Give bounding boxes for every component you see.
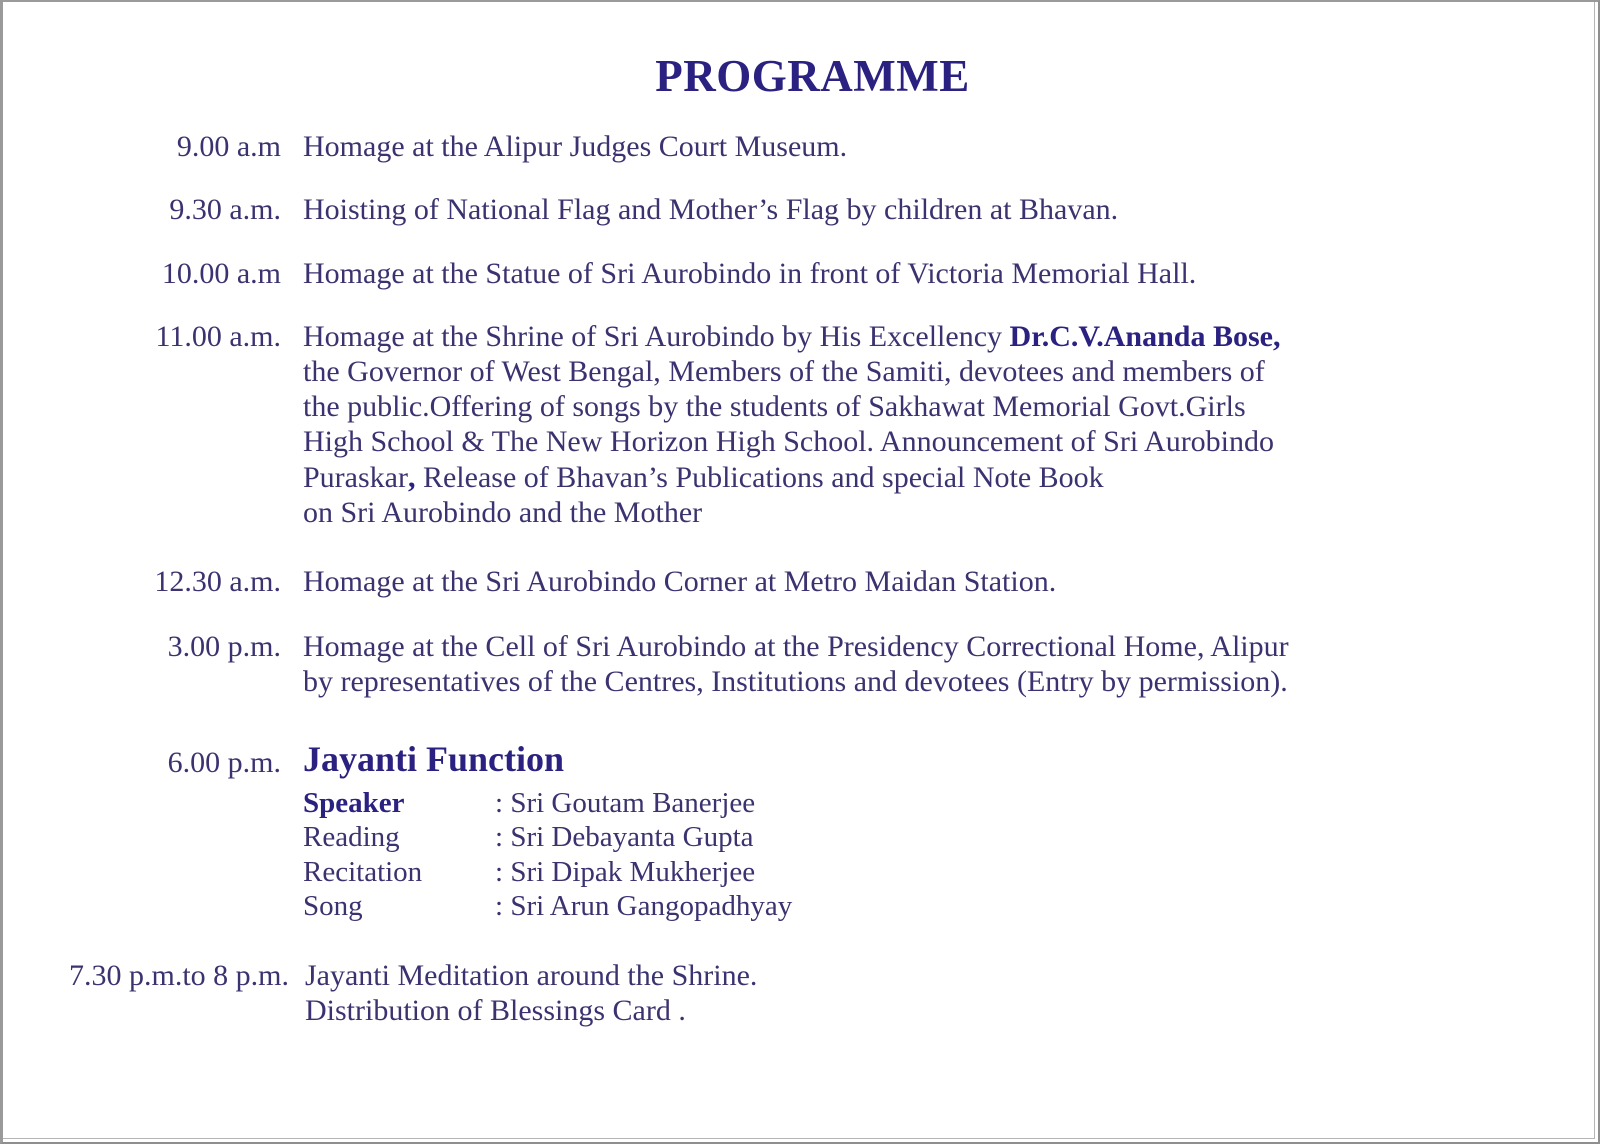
schedule-time: 10.00 a.m xyxy=(3,256,303,291)
governor-name: Dr.C.V.Ananda Bose, xyxy=(1010,320,1281,353)
schedule-time: 3.00 p.m. xyxy=(3,629,303,664)
schedule-row: 10.00 a.m Homage at the Statue of Sri Au… xyxy=(3,256,1598,291)
schedule-list: 9.00 a.m Homage at the Alipur Judges Cou… xyxy=(3,129,1598,1028)
credit-name: Sri Arun Gangopadhyay xyxy=(510,890,792,922)
credit-row: Speaker : Sri Goutam Banerjee xyxy=(303,786,1558,821)
credit-name: Sri Debayanta Gupta xyxy=(510,821,753,853)
jayanti-function-heading: Jayanti Function xyxy=(303,739,1558,779)
schedule-time: 9.00 a.m xyxy=(3,129,303,164)
schedule-time: 7.30 p.m.to 8 p.m. xyxy=(3,958,303,993)
schedule-description: Homage at the Statue of Sri Aurobindo in… xyxy=(303,256,1598,291)
credit-row: Recitation : Sri Dipak Mukherjee xyxy=(303,855,1558,890)
schedule-description: Homage at the Cell of Sri Aurobindo at t… xyxy=(303,629,1598,699)
credit-row: Reading : Sri Debayanta Gupta xyxy=(303,820,1558,855)
credit-separator: : xyxy=(495,787,503,819)
schedule-row: 9.00 a.m Homage at the Alipur Judges Cou… xyxy=(3,129,1598,164)
jayanti-credits-list: Speaker : Sri Goutam Banerjee Reading : … xyxy=(303,786,1558,924)
schedule-time: 9.30 a.m. xyxy=(3,192,303,227)
description-text: Release of Bhavan’s Publications and spe… xyxy=(415,461,1103,494)
page-frame: PROGRAMME 9.00 a.m Homage at the Alipur … xyxy=(0,0,1600,1144)
description-line: Hoisting of National Flag and Mother’s F… xyxy=(303,192,1558,227)
credit-person: : Sri Arun Gangopadhyay xyxy=(495,889,792,924)
credit-name: Sri Goutam Banerjee xyxy=(510,787,755,819)
description-line: Jayanti Meditation around the Shrine. xyxy=(305,958,1558,993)
schedule-time: 11.00 a.m. xyxy=(3,319,303,354)
puraskar-word: Puraskar xyxy=(303,461,408,494)
description-line: Homage at the Statue of Sri Aurobindo in… xyxy=(303,256,1558,291)
description-line: the public.Offering of songs by the stud… xyxy=(303,389,1558,424)
credit-role: Song xyxy=(303,889,495,924)
credit-role: Recitation xyxy=(303,855,495,890)
description-line: Homage at the Cell of Sri Aurobindo at t… xyxy=(303,629,1558,664)
description-line: Puraskar, Release of Bhavan’s Publicatio… xyxy=(303,460,1558,495)
credit-separator: : xyxy=(495,856,503,888)
schedule-description: Homage at the Alipur Judges Court Museum… xyxy=(303,129,1598,164)
schedule-row: 12.30 a.m. Homage at the Sri Aurobindo C… xyxy=(3,564,1598,599)
credit-person: : Sri Goutam Banerjee xyxy=(495,786,755,821)
description-line: Distribution of Blessings Card . xyxy=(305,993,1558,1028)
credit-role: Reading xyxy=(303,820,495,855)
credit-role: Speaker xyxy=(303,786,495,821)
description-line: Homage at the Sri Aurobindo Corner at Me… xyxy=(303,564,1558,599)
schedule-row: 9.30 a.m. Hoisting of National Flag and … xyxy=(3,192,1598,227)
credit-name: Sri Dipak Mukherjee xyxy=(510,856,755,888)
credit-separator: : xyxy=(495,821,503,853)
schedule-description: Homage at the Shrine of Sri Aurobindo by… xyxy=(303,319,1598,530)
schedule-description: Jayanti Meditation around the Shrine. Di… xyxy=(303,958,1598,1028)
schedule-time: 12.30 a.m. xyxy=(3,564,303,599)
schedule-row: 7.30 p.m.to 8 p.m. Jayanti Meditation ar… xyxy=(3,958,1598,1028)
schedule-description: Homage at the Sri Aurobindo Corner at Me… xyxy=(303,564,1598,599)
schedule-row: 3.00 p.m. Homage at the Cell of Sri Auro… xyxy=(3,629,1598,699)
description-line: on Sri Aurobindo and the Mother xyxy=(303,495,1558,530)
description-text: Homage at the Shrine of Sri Aurobindo by… xyxy=(303,320,1010,353)
schedule-description: Jayanti Function Speaker : Sri Goutam Ba… xyxy=(303,739,1598,923)
credit-person: : Sri Debayanta Gupta xyxy=(495,820,754,855)
schedule-row: 6.00 p.m. Jayanti Function Speaker : Sri… xyxy=(3,739,1598,923)
schedule-row: 11.00 a.m. Homage at the Shrine of Sri A… xyxy=(3,319,1598,530)
credit-person: : Sri Dipak Mukherjee xyxy=(495,855,755,890)
credit-row: Song : Sri Arun Gangopadhyay xyxy=(303,889,1558,924)
description-line: the Governor of West Bengal, Members of … xyxy=(303,354,1558,389)
description-line: Homage at the Shrine of Sri Aurobindo by… xyxy=(303,319,1558,354)
description-line: Homage at the Alipur Judges Court Museum… xyxy=(303,129,1558,164)
description-line: High School & The New Horizon High Schoo… xyxy=(303,424,1558,459)
credit-separator: : xyxy=(495,890,503,922)
schedule-time: 6.00 p.m. xyxy=(3,739,303,780)
schedule-description: Hoisting of National Flag and Mother’s F… xyxy=(303,192,1598,227)
page-title: PROGRAMME xyxy=(3,2,1598,99)
description-line: by representatives of the Centres, Insti… xyxy=(303,664,1558,699)
programme-sheet: PROGRAMME 9.00 a.m Homage at the Alipur … xyxy=(3,2,1598,1142)
